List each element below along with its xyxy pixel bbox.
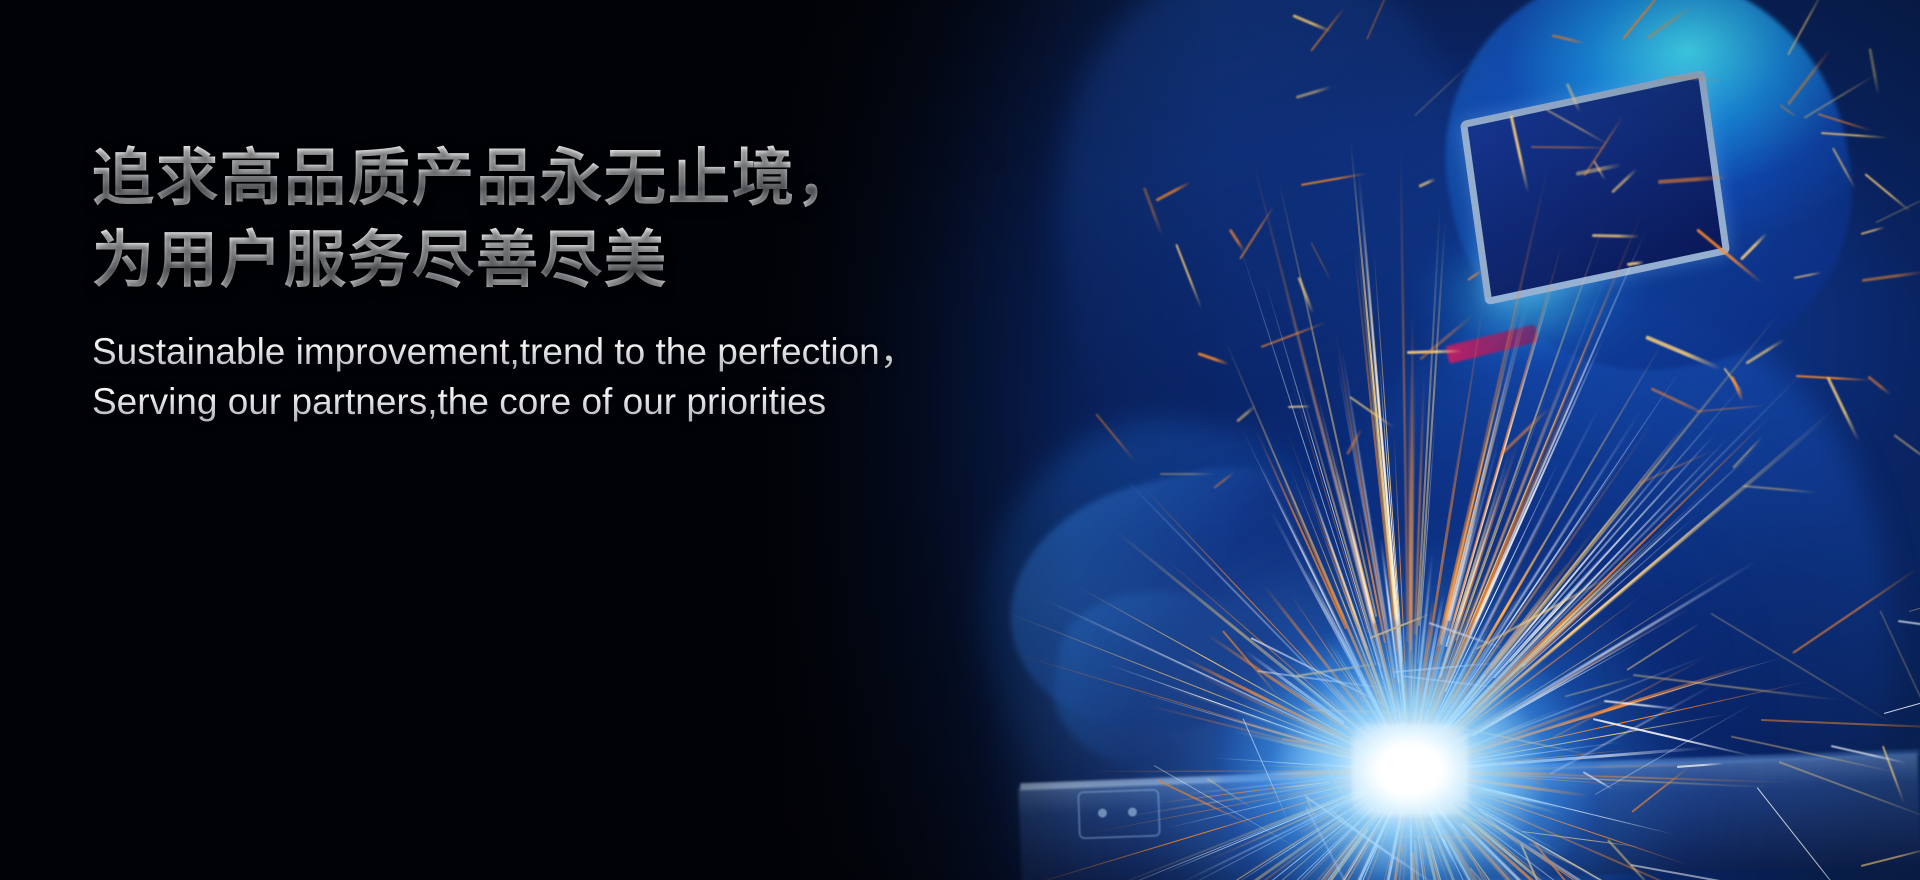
subheadline-line-2: Serving our partners,the core of our pri… (92, 378, 917, 426)
welding-scene-photo (0, 0, 1920, 880)
hero-banner: 追求高品质产品永无止境， 为用户服务尽善尽美 Sustainable impro… (0, 0, 1920, 880)
subheadline-line-1: Sustainable improvement,trend to the per… (92, 328, 917, 376)
headline-line-1: 追求高品质产品永无止境， (92, 138, 917, 220)
scene-vignette (0, 0, 1920, 880)
hero-copy: 追求高品质产品永无止境， 为用户服务尽善尽美 Sustainable impro… (92, 138, 917, 426)
headline-line-2: 为用户服务尽善尽美 (92, 220, 917, 302)
